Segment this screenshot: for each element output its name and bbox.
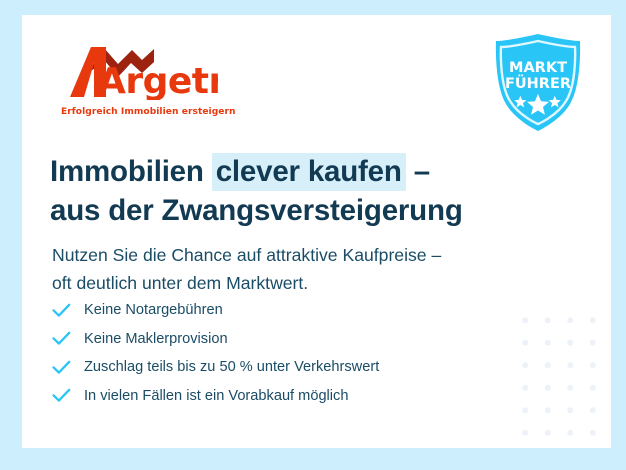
badge-line2: FÜHRER bbox=[505, 74, 571, 92]
list-item-label: Keine Notargebühren bbox=[78, 300, 223, 320]
headline-text-post: – bbox=[406, 155, 430, 188]
subheadline: Nutzen Sie die Chance auf attraktive Kau… bbox=[52, 241, 562, 297]
headline-line-1: Immobilien clever kaufen – bbox=[50, 152, 550, 191]
benefits-list: Keine Notargebühren Keine Maklerprovisio… bbox=[52, 296, 522, 410]
headline-highlight: clever kaufen bbox=[212, 153, 406, 191]
svg-text:Argetra: Argetra bbox=[98, 61, 218, 100]
list-item: In vielen Fällen ist ein Vorabkauf mögli… bbox=[52, 382, 522, 411]
badge-line1: MARKT bbox=[509, 60, 567, 76]
headline-line-2: aus der Zwangsversteigerung bbox=[50, 191, 550, 230]
list-item-label: Zuschlag teils bis zu 50 % unter Verkehr… bbox=[78, 357, 379, 377]
argetra-logo-mark-icon: Argetra bbox=[58, 40, 218, 100]
promo-banner: Argetra Erfolgreich Immobilien ersteiger… bbox=[0, 0, 626, 470]
markt-fuehrer-badge: MARKT FÜHRER bbox=[490, 32, 586, 133]
list-item: Zuschlag teils bis zu 50 % unter Verkehr… bbox=[52, 353, 522, 382]
list-item-label: Keine Maklerprovision bbox=[78, 329, 228, 349]
subheadline-line-2: oft deutlich unter dem Marktwert. bbox=[52, 269, 562, 297]
list-item: Keine Maklerprovision bbox=[52, 325, 522, 354]
check-icon bbox=[52, 331, 78, 346]
subheadline-line-1: Nutzen Sie die Chance auf attraktive Kau… bbox=[52, 241, 562, 269]
banner-card: Argetra Erfolgreich Immobilien ersteiger… bbox=[22, 15, 611, 448]
check-icon bbox=[52, 360, 78, 375]
headline-text-pre: Immobilien bbox=[50, 155, 212, 188]
check-icon bbox=[52, 303, 78, 318]
headline: Immobilien clever kaufen – aus der Zwang… bbox=[50, 152, 550, 230]
list-item-label: In vielen Fällen ist ein Vorabkauf mögli… bbox=[78, 386, 348, 406]
list-item: Keine Notargebühren bbox=[52, 296, 522, 325]
check-icon bbox=[52, 388, 78, 403]
dot-pattern-decoration bbox=[508, 303, 611, 448]
logo-tagline: Erfolgreich Immobilien ersteigern bbox=[61, 107, 236, 117]
argetra-logo: Argetra Erfolgreich Immobilien ersteiger… bbox=[58, 40, 238, 130]
